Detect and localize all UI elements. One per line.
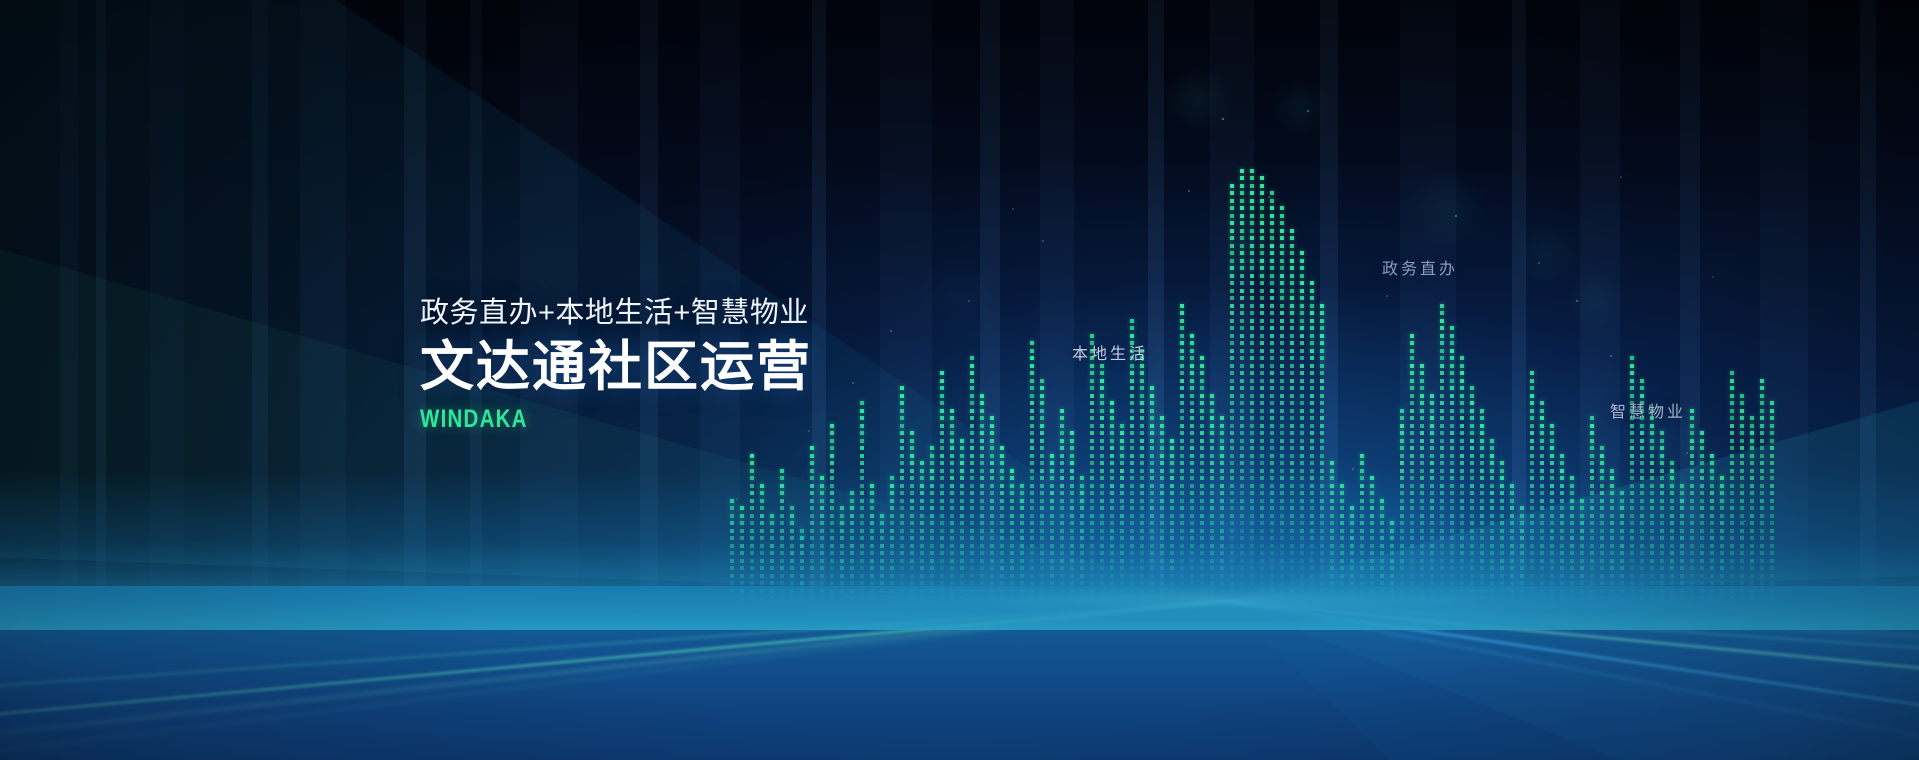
skyline-dot (940, 446, 944, 450)
skyline-dot (1380, 574, 1384, 578)
skyline-dot (990, 484, 994, 488)
skyline-dot (1430, 574, 1434, 578)
skyline-dot (910, 589, 914, 593)
skyline-dot (1660, 506, 1664, 510)
skyline-dot (1260, 244, 1264, 248)
skyline-column (1060, 0, 1064, 600)
skyline-dot (1770, 491, 1774, 495)
skyline-dot (1030, 559, 1034, 563)
skyline-dot (840, 596, 844, 600)
skyline-dot (1290, 304, 1294, 308)
skyline-dot (1500, 461, 1504, 465)
skyline-dot (1240, 229, 1244, 233)
skyline-dot (1240, 469, 1244, 473)
skyline-dot (1630, 559, 1634, 563)
skyline-dot (1300, 461, 1304, 465)
skyline-dot (1590, 431, 1594, 435)
skyline-dot (1340, 491, 1344, 495)
skyline-dot (1650, 469, 1654, 473)
skyline-dot (1320, 319, 1324, 323)
skyline-dot (1270, 551, 1274, 555)
skyline-dot (1410, 476, 1414, 480)
skyline-dot (1150, 394, 1154, 398)
skyline-dot (1130, 544, 1134, 548)
skyline-dot (1370, 499, 1374, 503)
skyline-column (1320, 0, 1324, 600)
skyline-dot (1770, 559, 1774, 563)
skyline-dot (1130, 596, 1134, 600)
skyline-dot (1130, 386, 1134, 390)
skyline-dot (1150, 596, 1154, 600)
skyline-dot (940, 386, 944, 390)
skyline-dot (1260, 386, 1264, 390)
skyline-dot (800, 574, 804, 578)
skyline-dot (770, 551, 774, 555)
skyline-dot (1590, 446, 1594, 450)
skyline-dot (1010, 506, 1014, 510)
skyline-dot (1240, 356, 1244, 360)
skyline-dot (1060, 551, 1064, 555)
skyline-dot (1530, 506, 1534, 510)
skyline-dot (1280, 521, 1284, 525)
skyline-dot (990, 491, 994, 495)
skyline-dot (1530, 521, 1534, 525)
skyline-dot (1360, 544, 1364, 548)
skyline-dot (1650, 589, 1654, 593)
skyline-dot (1070, 574, 1074, 578)
skyline-dot (1140, 514, 1144, 518)
skyline-dot (1500, 544, 1504, 548)
skyline-column (1100, 0, 1104, 600)
skyline-dot (1070, 544, 1074, 548)
skyline-dot (1140, 574, 1144, 578)
skyline-dot (830, 514, 834, 518)
skyline-dot (990, 566, 994, 570)
skyline-dot (1270, 244, 1274, 248)
skyline-dot (1300, 536, 1304, 540)
skyline-dot (900, 559, 904, 563)
skyline-dot (1160, 446, 1164, 450)
skyline-dot (1410, 409, 1414, 413)
skyline-dot (1130, 491, 1134, 495)
skyline-dot (1320, 409, 1324, 413)
skyline-dot (740, 544, 744, 548)
skyline-dot (1170, 506, 1174, 510)
skyline-dot (930, 529, 934, 533)
skyline-dot (1430, 499, 1434, 503)
skyline-dot (1270, 536, 1274, 540)
skyline-dot (1370, 589, 1374, 593)
skyline-dot (1630, 484, 1634, 488)
skyline-dot (1610, 491, 1614, 495)
skyline-dot (1380, 544, 1384, 548)
skyline-dot (770, 536, 774, 540)
skyline-dot (1700, 431, 1704, 435)
skyline-dot (1190, 431, 1194, 435)
skyline-dot (1470, 416, 1474, 420)
skyline-dot (1020, 491, 1024, 495)
skyline-dot (1320, 484, 1324, 488)
skyline-dot (1560, 476, 1564, 480)
skyline-dot (1160, 551, 1164, 555)
skyline-dot (1300, 506, 1304, 510)
skyline-dot (1000, 574, 1004, 578)
skyline-dot (1540, 476, 1544, 480)
skyline-dot (780, 476, 784, 480)
skyline-dot (1710, 581, 1714, 585)
skyline-dot (1230, 514, 1234, 518)
skyline-dot (750, 574, 754, 578)
skyline-dot (1190, 394, 1194, 398)
skyline-dot (1390, 559, 1394, 563)
skyline-dot (1450, 476, 1454, 480)
skyline-dot (1180, 349, 1184, 353)
skyline-dot (1440, 559, 1444, 563)
skyline-dot (1270, 574, 1274, 578)
skyline-dot (1460, 574, 1464, 578)
skyline-dot (900, 461, 904, 465)
skyline-dot (980, 514, 984, 518)
skyline-dot (1420, 401, 1424, 405)
skyline-dot (1110, 491, 1114, 495)
skyline-column (1750, 0, 1754, 600)
skyline-dot (1310, 566, 1314, 570)
skyline-dot (830, 454, 834, 458)
skyline-dot (1650, 574, 1654, 578)
skyline-dot (1130, 334, 1134, 338)
skyline-dot (1260, 476, 1264, 480)
skyline-dot (1060, 566, 1064, 570)
skyline-dot (1220, 596, 1224, 600)
skyline-dot (1510, 544, 1514, 548)
skyline-dot (800, 596, 804, 600)
skyline-dot (1550, 446, 1554, 450)
skyline-dot (970, 371, 974, 375)
skyline-dot (1100, 529, 1104, 533)
skyline-dot (1060, 439, 1064, 443)
skyline-dot (1110, 514, 1114, 518)
skyline-column (1490, 0, 1494, 600)
skyline-dot (1290, 491, 1294, 495)
skyline-dot (1200, 566, 1204, 570)
skyline-dot (1260, 184, 1264, 188)
skyline-dot (920, 484, 924, 488)
skyline-dot (830, 581, 834, 585)
skyline-dot (1470, 596, 1474, 600)
skyline-dot (1040, 536, 1044, 540)
skyline-dot (1290, 281, 1294, 285)
skyline-dot (1270, 296, 1274, 300)
skyline-dot (970, 379, 974, 383)
skyline-dot (1230, 206, 1234, 210)
skyline-dot (1020, 544, 1024, 548)
skyline-dot (1750, 596, 1754, 600)
brand-wordmark: WINDAKA (420, 405, 741, 434)
skyline-dot (1580, 506, 1584, 510)
skyline-dot (1740, 446, 1744, 450)
skyline-dot (1560, 596, 1564, 600)
skyline-dot (790, 574, 794, 578)
skyline-dot (1210, 454, 1214, 458)
skyline-dot (1320, 566, 1324, 570)
skyline-dot (1550, 514, 1554, 518)
skyline-dot (1210, 461, 1214, 465)
skyline-dot (1200, 446, 1204, 450)
skyline-dot (1470, 454, 1474, 458)
skyline-dot (1220, 499, 1224, 503)
skyline-dot (1720, 589, 1724, 593)
skyline-dot (1000, 589, 1004, 593)
skyline-dot (1570, 536, 1574, 540)
skyline-dot (1250, 364, 1254, 368)
skyline-dot (1030, 544, 1034, 548)
skyline-dot (1690, 559, 1694, 563)
skyline-dot (1600, 476, 1604, 480)
skyline-dot (1060, 589, 1064, 593)
skyline-dot (890, 551, 894, 555)
skyline-dot (940, 536, 944, 540)
skyline-column (1200, 0, 1204, 600)
skyline-dot (1140, 476, 1144, 480)
skyline-dot (1020, 484, 1024, 488)
skyline-dot (860, 461, 864, 465)
skyline-dot (1440, 446, 1444, 450)
skyline-dot (1770, 544, 1774, 548)
skyline-dot (1090, 461, 1094, 465)
skyline-dot (1190, 544, 1194, 548)
skyline-dot (1700, 596, 1704, 600)
skyline-dot (1260, 529, 1264, 533)
skyline-dot (1410, 581, 1414, 585)
skyline-dot (1420, 379, 1424, 383)
skyline-dot (1130, 394, 1134, 398)
skyline-dot (1330, 506, 1334, 510)
skyline-dot (1270, 311, 1274, 315)
skyline-dot (1460, 529, 1464, 533)
skyline-dot (1270, 589, 1274, 593)
skyline-dot (1100, 484, 1104, 488)
skyline-dot (1710, 529, 1714, 533)
skyline-dot (910, 566, 914, 570)
skyline-dot (1150, 581, 1154, 585)
skyline-dot (1590, 521, 1594, 525)
skyline-dot (1240, 236, 1244, 240)
skyline-dot (730, 514, 734, 518)
skyline-dot (1590, 461, 1594, 465)
skyline-dot (1280, 341, 1284, 345)
skyline-dot (1540, 581, 1544, 585)
skyline-dot (1450, 431, 1454, 435)
sparkle-particle (1386, 295, 1388, 297)
skyline-dot (1590, 416, 1594, 420)
skyline-dot (1690, 506, 1694, 510)
skyline-dot (1620, 514, 1624, 518)
skyline-dot (1030, 484, 1034, 488)
skyline-dot (1010, 574, 1014, 578)
skyline-dot (1260, 469, 1264, 473)
sparkle-particle (1576, 300, 1578, 302)
skyline-dot (1240, 431, 1244, 435)
skyline-dot (1230, 529, 1234, 533)
skyline-dot (780, 581, 784, 585)
skyline-dot (1560, 499, 1564, 503)
skyline-dot (1270, 289, 1274, 293)
skyline-dot (1420, 431, 1424, 435)
skyline-dot (1240, 506, 1244, 510)
skyline-dot (970, 439, 974, 443)
skyline-dot (1410, 589, 1414, 593)
skyline-dot (1100, 446, 1104, 450)
skyline-dot (730, 544, 734, 548)
skyline-dot (1110, 544, 1114, 548)
skyline-dot (1480, 461, 1484, 465)
skyline-dot (1400, 544, 1404, 548)
skyline-dot (1400, 559, 1404, 563)
skyline-dot (1000, 469, 1004, 473)
skyline-dot (1750, 416, 1754, 420)
skyline-dot (980, 484, 984, 488)
skyline-dot (940, 394, 944, 398)
skyline-dot (1240, 221, 1244, 225)
skyline-dot (1760, 529, 1764, 533)
skyline-dot (1180, 454, 1184, 458)
skyline-dot (970, 574, 974, 578)
skyline-column (1170, 0, 1174, 600)
skyline-column (1630, 0, 1634, 600)
skyline-dot (750, 506, 754, 510)
skyline-dot (1740, 491, 1744, 495)
skyline-dot (900, 409, 904, 413)
skyline-dot (1040, 409, 1044, 413)
skyline-dot (1640, 536, 1644, 540)
skyline-column (1180, 0, 1184, 600)
skyline-dot (860, 506, 864, 510)
skyline-dot (880, 521, 884, 525)
skyline-dot (950, 521, 954, 525)
skyline-dot (1280, 446, 1284, 450)
skyline-column (1440, 0, 1444, 600)
skyline-dot (970, 401, 974, 405)
skyline-dot (890, 499, 894, 503)
skyline-column (1260, 0, 1264, 600)
skyline-dot (1100, 581, 1104, 585)
skyline-dot (1240, 274, 1244, 278)
skyline-dot (1120, 536, 1124, 540)
skyline-dot (900, 476, 904, 480)
skyline-dot (1060, 544, 1064, 548)
skyline-dot (1410, 499, 1414, 503)
skyline-dot (1240, 401, 1244, 405)
skyline-dot (1080, 581, 1084, 585)
skyline-dot (860, 574, 864, 578)
skyline-dot (1240, 281, 1244, 285)
skyline-column (1220, 0, 1224, 600)
skyline-dot (1110, 529, 1114, 533)
skyline-dot (980, 536, 984, 540)
skyline-dot (1610, 559, 1614, 563)
skyline-dot (1130, 484, 1134, 488)
skyline-dot (1750, 454, 1754, 458)
skyline-dot (800, 581, 804, 585)
skyline-dot (900, 506, 904, 510)
skyline-dot (1230, 221, 1234, 225)
skyline-dot (1380, 589, 1384, 593)
skyline-dot (1280, 596, 1284, 600)
skyline-dot (1280, 566, 1284, 570)
skyline-dot (790, 559, 794, 563)
skyline-dot (1260, 446, 1264, 450)
skyline-dot (1580, 559, 1584, 563)
skyline-dot (910, 596, 914, 600)
skyline-dot (950, 439, 954, 443)
skyline-dot (820, 596, 824, 600)
skyline-dot (1280, 371, 1284, 375)
skyline-dot (1120, 544, 1124, 548)
skyline-dot (1300, 514, 1304, 518)
skyline-dot (1310, 326, 1314, 330)
skyline-dot (1320, 341, 1324, 345)
skyline-dot (1220, 491, 1224, 495)
skyline-dot (1490, 596, 1494, 600)
skyline-dot (910, 559, 914, 563)
skyline-dot (1270, 236, 1274, 240)
skyline-dot (1050, 491, 1054, 495)
skyline-dot (1090, 334, 1094, 338)
skyline-dot (1630, 454, 1634, 458)
skyline-dot (1200, 371, 1204, 375)
skyline-dot (1010, 559, 1014, 563)
skyline-dot (1670, 574, 1674, 578)
skyline-dot (1310, 476, 1314, 480)
skyline-dot (1740, 589, 1744, 593)
skyline-dot (1300, 439, 1304, 443)
skyline-dot (1350, 574, 1354, 578)
skyline-dot (1300, 529, 1304, 533)
skyline-dot (1140, 581, 1144, 585)
skyline-dot (1280, 356, 1284, 360)
skyline-dot (1090, 566, 1094, 570)
skyline-dot (1230, 416, 1234, 420)
skyline-dot (1410, 364, 1414, 368)
skyline-dot (1300, 364, 1304, 368)
skyline-dot (1640, 446, 1644, 450)
skyline-dot (980, 424, 984, 428)
skyline-dot (1240, 379, 1244, 383)
skyline-dot (1310, 386, 1314, 390)
skyline-dot (1110, 596, 1114, 600)
skyline-dot (1360, 551, 1364, 555)
skyline-dot (1660, 589, 1664, 593)
skyline-dot (1040, 461, 1044, 465)
skyline-dot (1230, 581, 1234, 585)
skyline-dot (910, 454, 914, 458)
skyline-dot (860, 401, 864, 405)
skyline-dot (900, 581, 904, 585)
skyline-column (880, 0, 884, 600)
skyline-dot (1090, 476, 1094, 480)
skyline-dot (810, 559, 814, 563)
skyline-dot (1730, 574, 1734, 578)
skyline-dot (1430, 484, 1434, 488)
skyline-dot (1040, 476, 1044, 480)
skyline-dot (1090, 401, 1094, 405)
skyline-dot (1030, 386, 1034, 390)
skyline-dot (1470, 559, 1474, 563)
skyline-dot (840, 529, 844, 533)
skyline-dot (1180, 551, 1184, 555)
skyline-dot (1610, 506, 1614, 510)
skyline-dot (1390, 589, 1394, 593)
